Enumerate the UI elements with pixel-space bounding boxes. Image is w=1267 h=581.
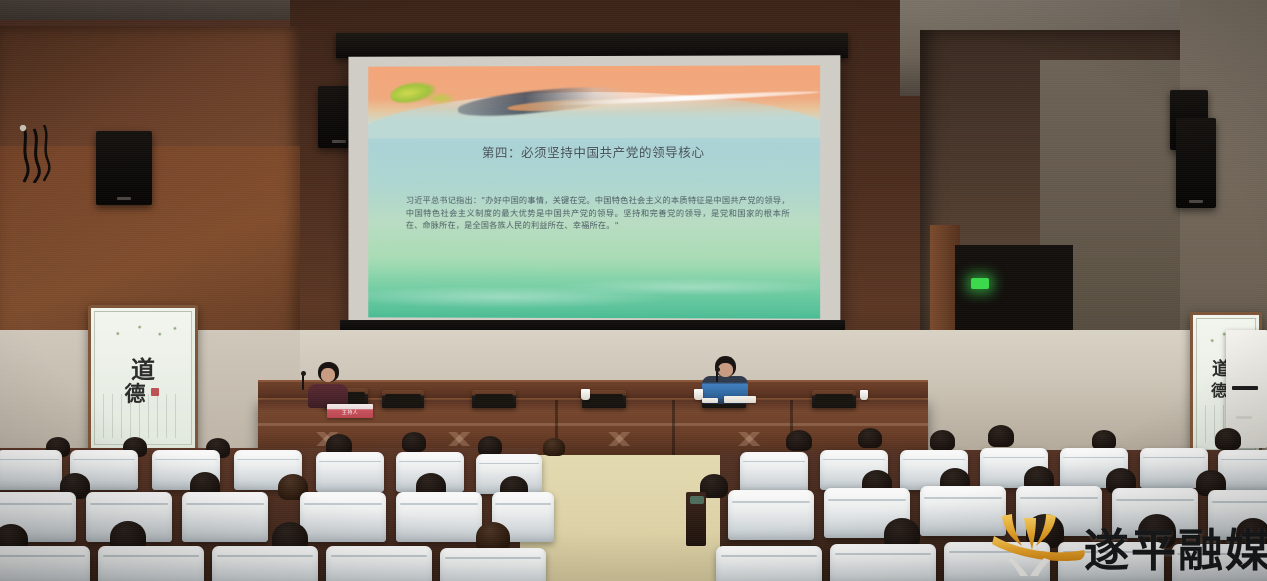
seat-r1-5	[440, 548, 546, 581]
presentation-slide: 第四：必须坚持中国共产党的领导核心 习近平总书记指出："办好中国的事情，关键在党…	[368, 65, 820, 318]
seat-r3-8	[740, 452, 808, 492]
audience-head-f8	[988, 425, 1014, 447]
cabinet-handle	[1232, 386, 1258, 390]
dais-carving-3	[560, 432, 680, 446]
audience-head-f4	[543, 438, 565, 456]
conference-hall-photo: 第四：必须坚持中国共产党的领导核心 习近平总书记指出："办好中国的事情，关键在党…	[0, 0, 1267, 581]
slide-decor-leaf-icon-2	[426, 92, 456, 104]
dais-chair-3	[472, 390, 516, 408]
nameplate-text: 主持人	[327, 409, 373, 416]
documents-right-2	[702, 398, 718, 403]
seat-r1-9	[1058, 542, 1164, 581]
seat-r1-8	[944, 542, 1050, 581]
documents-right	[724, 396, 756, 403]
audience-head-f9	[1092, 430, 1116, 450]
slide-title: 第四：必须坚持中国共产党的领导核心	[368, 142, 820, 161]
seat-r2-7	[728, 490, 814, 540]
calligraphy-panel-left-inner: 道 德	[94, 311, 192, 445]
seat-r2-9	[920, 486, 1006, 536]
cable-bundle-icon	[18, 125, 60, 183]
seat-r1-3	[212, 546, 318, 581]
seat-r3-1	[0, 450, 62, 490]
wall-speaker-left	[96, 131, 152, 205]
audience-head-f5	[786, 430, 812, 451]
cup-far-right	[860, 390, 868, 400]
plum-branch-icon	[101, 318, 185, 344]
cup-center	[581, 389, 590, 400]
slide-decor-ripple	[368, 266, 820, 319]
seat-aisle-button	[690, 496, 704, 504]
dais-seam-2	[672, 400, 675, 460]
calligraphy-panel-left: 道 德	[88, 305, 198, 451]
audience-head-f10	[1215, 428, 1241, 450]
audience-head-f2	[402, 432, 426, 452]
screen-valance	[336, 33, 848, 58]
dais-chair-6	[812, 390, 856, 408]
seat-r1-7	[830, 544, 936, 581]
seat-r1-2	[98, 546, 204, 581]
dais-trim-line	[258, 423, 928, 426]
dais-chair-2	[382, 390, 424, 408]
calligraphy-text-lines	[103, 394, 183, 438]
presenter-left-face	[321, 368, 335, 382]
microphone-right	[716, 370, 718, 382]
audience-head-f6	[858, 428, 882, 448]
seat-r2-5	[396, 492, 482, 542]
seat-r1-10	[1172, 544, 1267, 581]
seat-r1-1	[0, 546, 90, 581]
seat-r3-5	[316, 452, 384, 492]
projection-screen: 第四：必须坚持中国共产党的领导核心 习近平总书记指出："办好中国的事情，关键在党…	[348, 55, 840, 327]
seat-r1-4	[326, 546, 432, 581]
nameplate: 主持人	[327, 404, 373, 418]
presenter-right-face	[718, 363, 733, 377]
cabinet-handle-2	[1236, 416, 1252, 419]
seat-r2-4	[300, 492, 386, 542]
exit-sign-icon	[971, 278, 989, 289]
wall-speaker-right-2	[1176, 118, 1216, 208]
microphone-left	[302, 374, 304, 390]
slide-body-text: 习近平总书记指出："办好中国的事情，关键在党。中国特色社会主义的本质特征是中国共…	[406, 194, 790, 232]
seat-r2-3	[182, 492, 268, 542]
audience-head-f7	[930, 430, 955, 451]
seat-r1-6	[716, 546, 822, 581]
audience-head-f3	[478, 436, 502, 456]
